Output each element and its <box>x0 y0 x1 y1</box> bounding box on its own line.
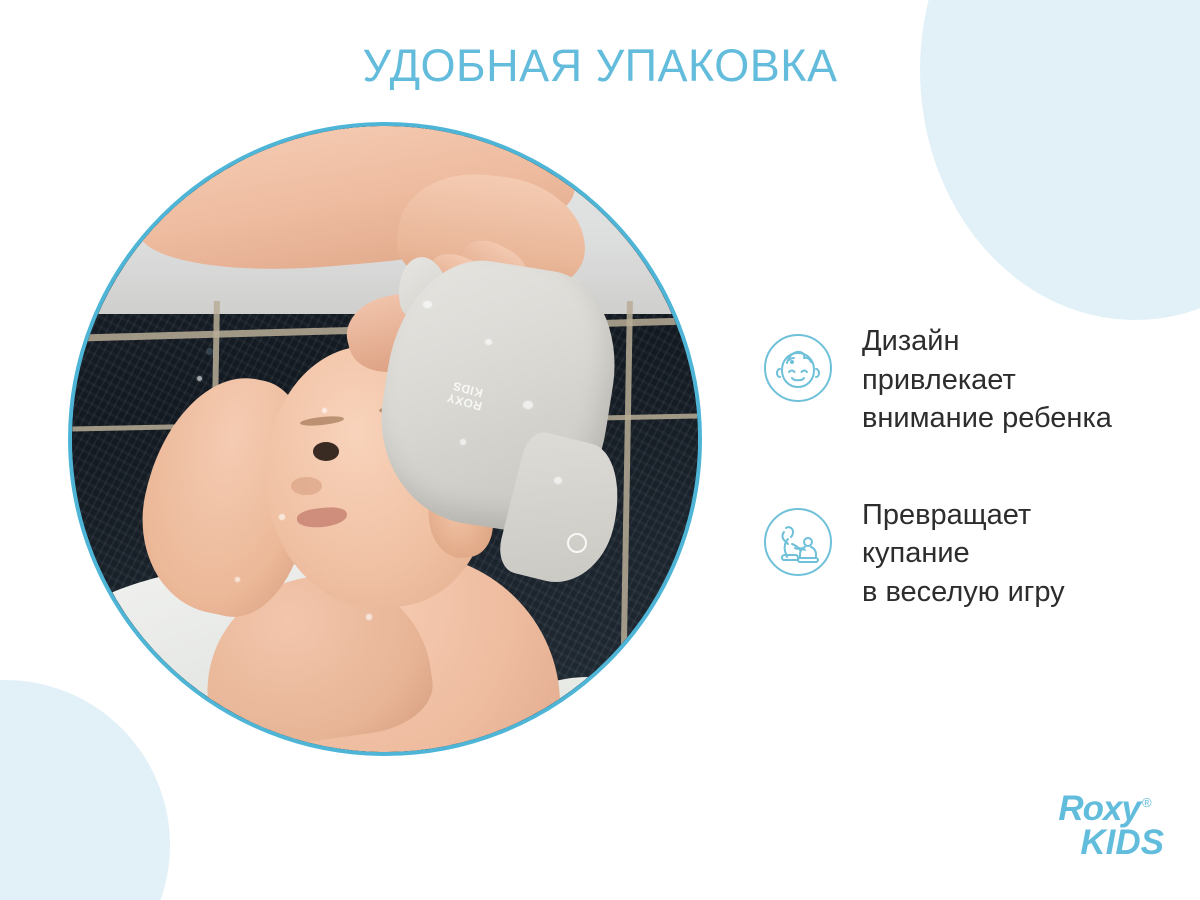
baby-eye <box>313 442 339 461</box>
feature-item-fun-bathing: Превращает купание в веселую игру <box>762 496 1182 612</box>
brand-logo-roxy: Roxy® <box>1058 793 1150 825</box>
brand-logo-roxy-text: Roxy <box>1058 789 1140 828</box>
slide-root: УДОБНАЯ УПАКОВКА <box>0 0 1200 900</box>
brand-logo: Roxy® KIDS <box>1058 793 1164 858</box>
feature-list: Дизайн привлекает внимание ребенка <box>762 322 1182 669</box>
cap-hanging-hole <box>567 533 587 553</box>
registered-trademark-icon: ® <box>1142 795 1151 810</box>
water-droplet <box>235 577 240 582</box>
water-droplet <box>485 339 492 345</box>
feature-label: Дизайн привлекает внимание ребенка <box>862 322 1112 438</box>
water-droplet <box>279 514 285 520</box>
water-droplet <box>423 301 432 308</box>
feature-item-design: Дизайн привлекает внимание ребенка <box>762 322 1182 438</box>
page-title: УДОБНАЯ УПАКОВКА <box>0 40 1200 92</box>
parent-and-child-playing-icon <box>762 506 834 578</box>
feature-label: Превращает купание в веселую игру <box>862 496 1065 612</box>
baby-face-icon <box>762 332 834 404</box>
product-photo: ROXY KIDS <box>72 126 698 752</box>
product-photo-circle: ROXY KIDS <box>68 122 702 756</box>
brand-logo-kids: KIDS <box>1080 827 1164 859</box>
water-droplet <box>554 477 562 484</box>
